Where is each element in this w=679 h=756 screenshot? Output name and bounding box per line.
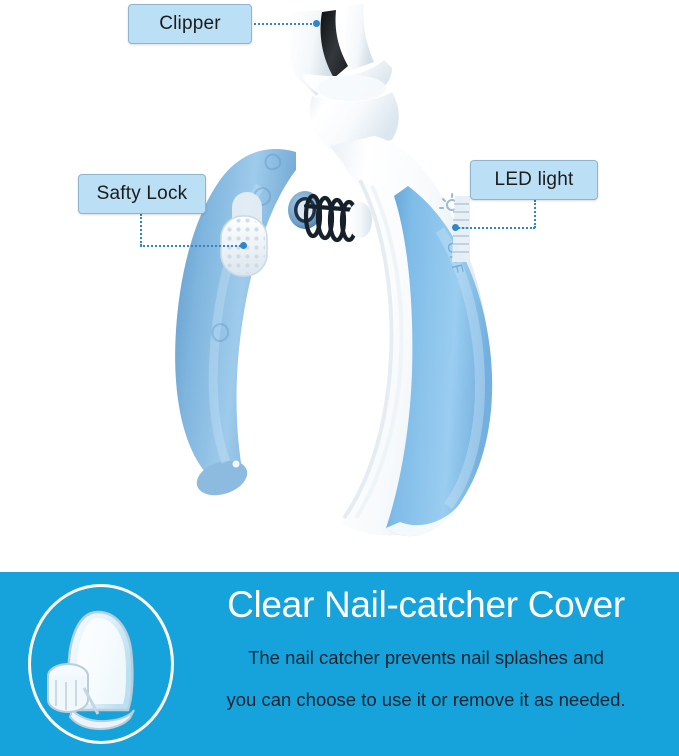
leader-dot-safety-lock (240, 242, 247, 249)
leader-line-led-vertical (534, 200, 536, 228)
banner-title: Clear Nail-catcher Cover (227, 582, 625, 628)
nail-catcher-circle-outline (28, 584, 174, 744)
leader-line-led-horizontal (455, 227, 535, 229)
feature-banner-bottom-strip (0, 748, 679, 756)
callout-text-safety-lock: Safty Lock (97, 183, 188, 205)
callout-text-led-light: LED light (495, 169, 574, 191)
banner-text-block: Clear Nail-catcher Cover The nail catche… (186, 576, 666, 744)
leader-dot-clipper (313, 20, 320, 27)
callout-text-clipper: Clipper (159, 13, 221, 35)
callout-label-clipper: Clipper (128, 4, 252, 44)
leader-line-safety-lock-vertical (140, 214, 142, 246)
banner-body-line-2: you can choose to use it or remove it as… (226, 690, 625, 709)
leader-line-clipper (254, 23, 316, 25)
leader-dot-led (452, 224, 459, 231)
product-image-stage: OFF (0, 0, 679, 572)
callout-label-safety-lock: Safty Lock (78, 174, 206, 214)
pet-nail-clipper-illustration: OFF (0, 0, 679, 572)
callout-label-led-light: LED light (470, 160, 598, 200)
banner-body-line-1: The nail catcher prevents nail splashes … (248, 648, 604, 667)
leader-line-safety-lock-horizontal (140, 245, 244, 247)
clipper-arm-right (345, 4, 374, 70)
